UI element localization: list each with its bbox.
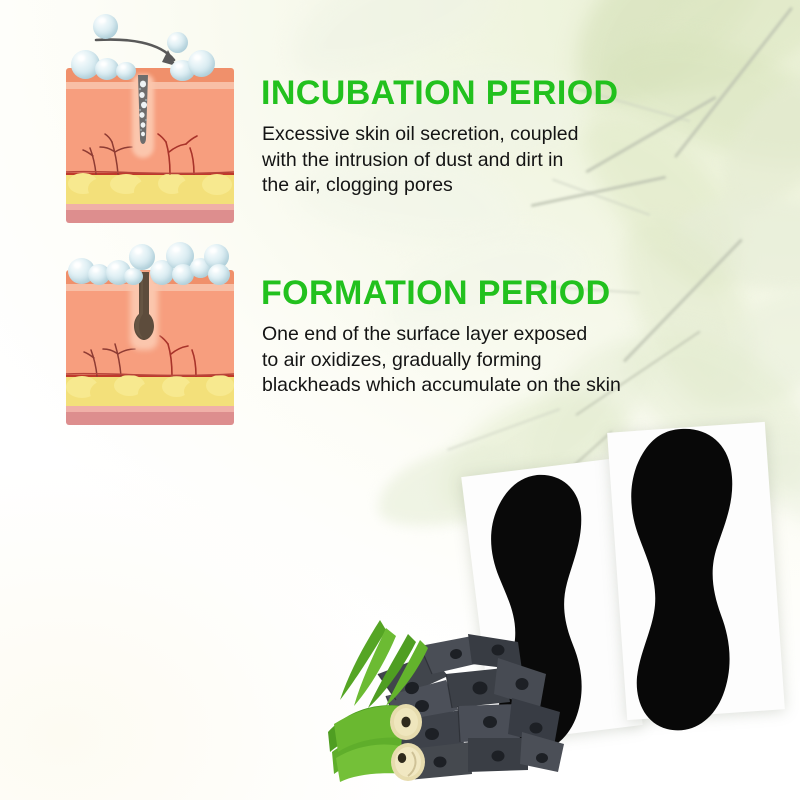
clogged-pore-icon <box>128 72 158 164</box>
infographic-canvas: INCUBATION PERIOD Excessive skin oil sec… <box>0 0 800 800</box>
bamboo-stalks <box>328 676 458 786</box>
bamboo-charcoal-cluster <box>322 618 587 800</box>
body-line: the air, clogging pores <box>262 173 579 199</box>
bubble <box>124 268 143 285</box>
illustration-formation <box>66 238 246 428</box>
body-formation-period: One end of the surface layer exposed to … <box>262 322 621 399</box>
bubble <box>93 14 118 39</box>
heading-incubation-period: INCUBATION PERIOD <box>261 76 619 110</box>
illustration-incubation <box>66 8 246 228</box>
body-line: to air oxidizes, gradually forming <box>262 348 621 374</box>
bubble <box>188 50 215 77</box>
skin-cross-section <box>66 270 234 425</box>
body-line: Excessive skin oil secretion, coupled <box>262 122 579 148</box>
body-line: blackheads which accumulate on the skin <box>262 373 621 399</box>
body-line: with the intrusion of dust and dirt in <box>262 148 579 174</box>
nose-strip-right <box>603 423 793 753</box>
body-line: One end of the surface layer exposed <box>262 322 621 348</box>
skin-cross-section <box>66 68 234 223</box>
bubble <box>208 264 230 285</box>
heading-formation-period: FORMATION PERIOD <box>261 276 611 310</box>
bubble <box>167 32 188 53</box>
bubble <box>116 62 136 80</box>
body-incubation-period: Excessive skin oil secretion, coupled wi… <box>262 122 579 199</box>
